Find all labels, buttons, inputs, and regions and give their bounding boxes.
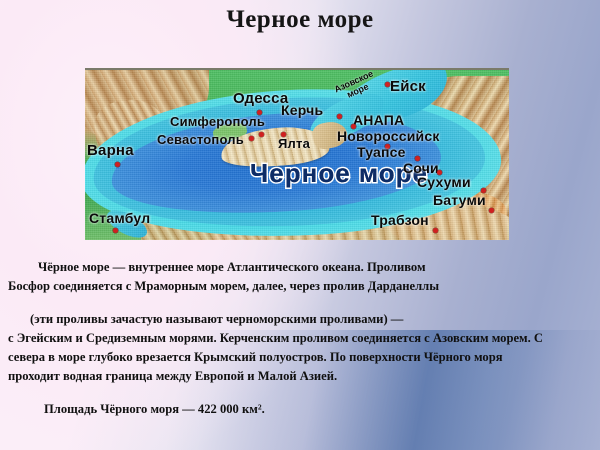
map-city-dot	[115, 162, 120, 167]
paragraph-spacer-1	[8, 296, 592, 310]
description-line-2: Босфор соединяется с Мраморным морем, да…	[8, 277, 592, 296]
map-city-label: Варна	[87, 142, 134, 159]
black-sea-map-image: Азовское море Черное море Черное море Од…	[85, 68, 509, 240]
map-city-label: Ялта	[278, 136, 310, 151]
description-line-5: севера в море глубоко врезается Крымский…	[8, 348, 592, 367]
map-city-dot	[259, 132, 264, 137]
map-city-dot	[337, 114, 342, 119]
map-city-label: Ейск	[390, 78, 426, 95]
map-label-black-sea: Черное море	[250, 158, 428, 189]
map-city-label: Батуми	[433, 192, 486, 208]
map-city-dot	[385, 82, 390, 87]
map-city-label: Туапсе	[357, 144, 406, 160]
paragraph-spacer-2	[8, 386, 592, 400]
map-city-dot	[281, 132, 286, 137]
map-city-label: Симферополь	[170, 114, 265, 129]
description-line-1: Чёрное море — внутреннее море Атлантичес…	[8, 258, 592, 277]
map-city-dot	[433, 228, 438, 233]
map-city-dot	[249, 136, 254, 141]
map-city-label: АНАПА	[353, 112, 404, 128]
map-city-label: Стамбул	[89, 210, 150, 226]
map-city-label: Новороссийск	[337, 128, 440, 144]
map-city-label: Керчь	[281, 102, 323, 118]
map-city-label: Сухуми	[417, 174, 471, 190]
description-area-line: Площадь Чёрного моря — 422 000 км².	[8, 400, 592, 419]
map-canvas: Азовское море Черное море Черное море Од…	[85, 70, 509, 240]
map-city-dot	[113, 228, 118, 233]
description-text-block: Чёрное море — внутреннее море Атлантичес…	[8, 258, 592, 419]
page-title: Черное море	[0, 6, 600, 34]
map-city-label: Севастополь	[157, 132, 244, 147]
map-city-label: Трабзон	[371, 212, 429, 228]
description-line-4: с Эгейским и Средиземным морями. Керченс…	[8, 329, 592, 348]
description-line-6: проходит водная граница между Европой и …	[8, 367, 592, 386]
description-line-3: (эти проливы зачастую называют черноморс…	[8, 310, 592, 329]
map-city-dot	[489, 208, 494, 213]
